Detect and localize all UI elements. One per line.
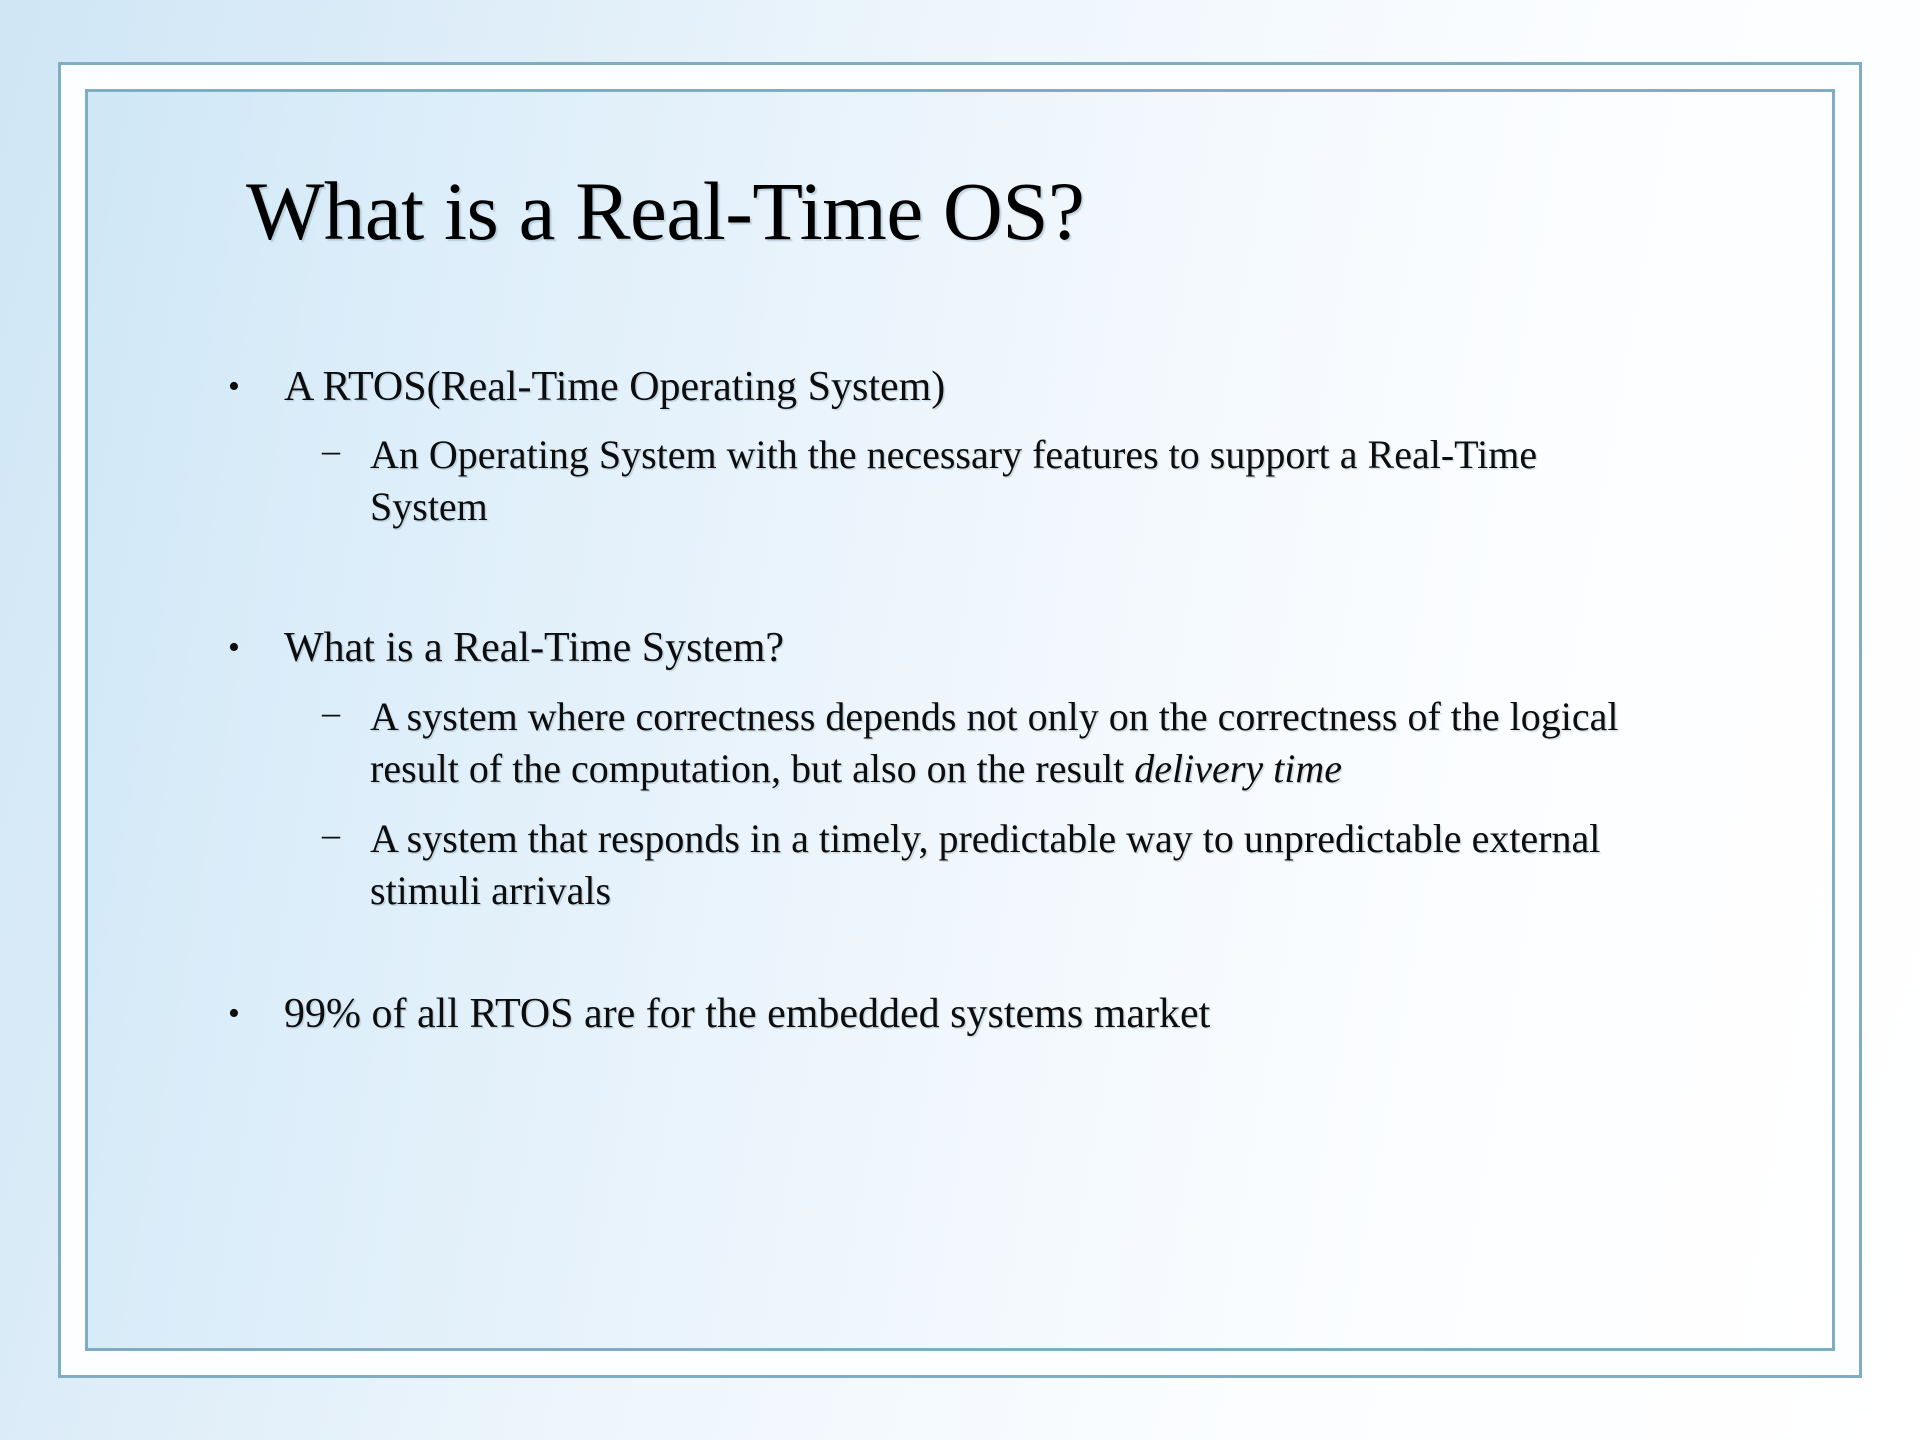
- bullet-dot-icon: •: [228, 991, 284, 1037]
- sub-bullet-item-timely-response: – A system that responds in a timely, pr…: [322, 813, 1792, 917]
- bullet-dot-icon: •: [228, 364, 284, 410]
- bullet-text: A RTOS(Real-Time Operating System): [284, 364, 1792, 411]
- sub-bullet-text: A system where correctness depends not o…: [370, 691, 1640, 795]
- bullet-list: • A RTOS(Real-Time Operating System) – A…: [228, 364, 1792, 1038]
- spacer: [228, 917, 1792, 991]
- spacer: [228, 411, 1792, 429]
- sub-bullet-text: A system that responds in a timely, pred…: [370, 813, 1640, 917]
- slide: What is a Real-Time OS? • A RTOS(Real-Ti…: [0, 0, 1920, 1440]
- slide-outer-border: What is a Real-Time OS? • A RTOS(Real-Ti…: [58, 62, 1862, 1378]
- slide-content: What is a Real-Time OS? • A RTOS(Real-Ti…: [88, 92, 1832, 1348]
- bullet-item-rtos: • A RTOS(Real-Time Operating System): [228, 364, 1792, 411]
- spacer: [228, 533, 1792, 625]
- dash-icon: –: [322, 429, 370, 473]
- dash-icon: –: [322, 691, 370, 735]
- slide-inner-border: What is a Real-Time OS? • A RTOS(Real-Ti…: [85, 89, 1835, 1351]
- bullet-dot-icon: •: [228, 625, 284, 671]
- dash-icon: –: [322, 813, 370, 857]
- bullet-text: What is a Real-Time System?: [284, 625, 1792, 672]
- page-title: What is a Real-Time OS?: [246, 170, 1084, 253]
- sub-bullet-text-emphasis: delivery time: [1134, 746, 1342, 791]
- sub-bullet-item-correctness: – A system where correctness depends not…: [322, 691, 1792, 795]
- spacer: [228, 673, 1792, 691]
- spacer: [228, 795, 1792, 813]
- bullet-text: 99% of all RTOS are for the embedded sys…: [284, 991, 1792, 1038]
- sub-bullet-text-plain: A system where correctness depends not o…: [370, 694, 1619, 791]
- sub-bullet-item-os-features: – An Operating System with the necessary…: [322, 429, 1792, 533]
- bullet-item-what-is-rts: • What is a Real-Time System?: [228, 625, 1792, 672]
- bullet-item-embedded-market: • 99% of all RTOS are for the embedded s…: [228, 991, 1792, 1038]
- sub-bullet-text: An Operating System with the necessary f…: [370, 429, 1640, 533]
